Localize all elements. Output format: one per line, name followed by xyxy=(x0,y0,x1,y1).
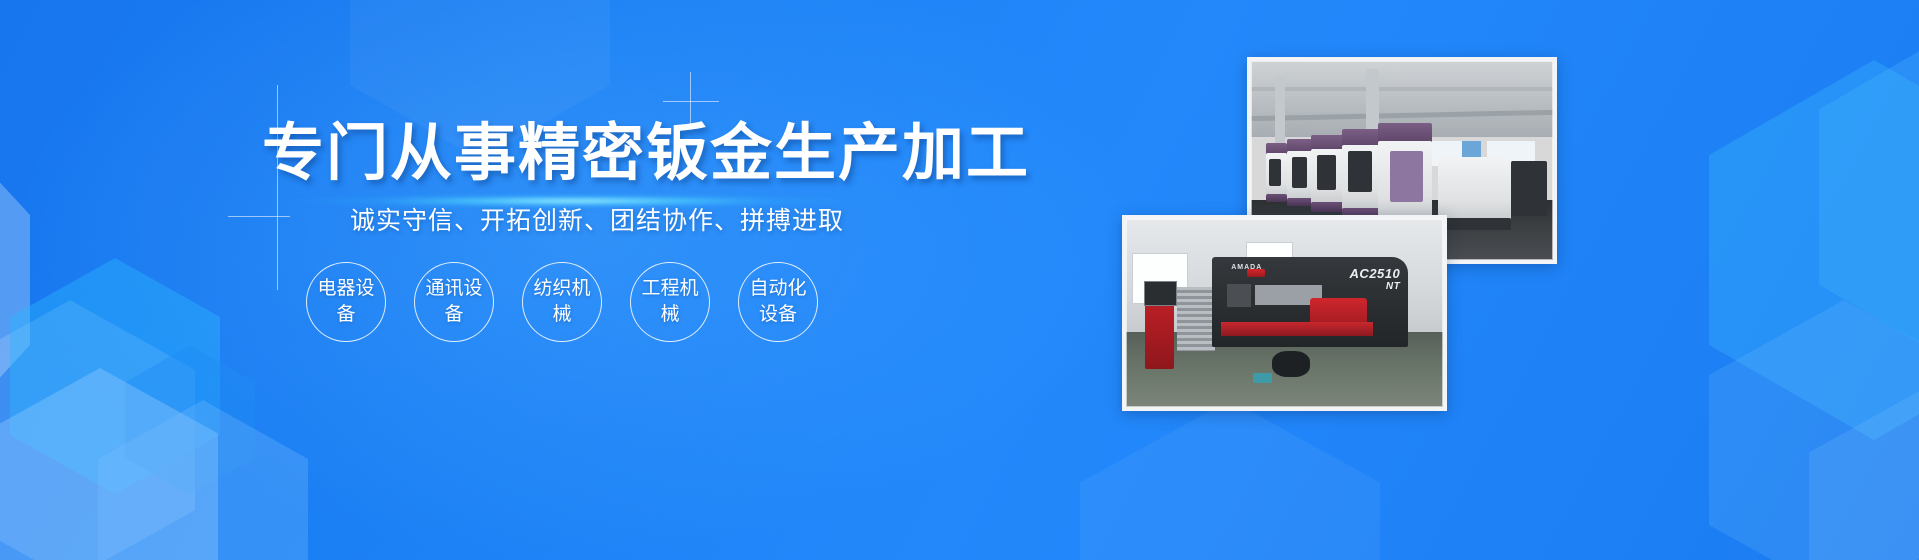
badge-label: 自动化设备 xyxy=(745,276,811,328)
amada-punch-press-photo[interactable]: AMADA AC2510 NT xyxy=(1122,215,1447,411)
machine-body xyxy=(1511,161,1547,217)
machine-base xyxy=(1438,218,1510,230)
machine-window-panel xyxy=(1390,151,1423,203)
badge-engineering-machinery[interactable]: 工程机械 xyxy=(630,262,710,342)
headline-block: 专门从事精密钣金生产加工 xyxy=(262,118,882,196)
machine-door xyxy=(1269,159,1281,187)
badge-label: 纺织机械 xyxy=(529,276,595,328)
badge-label: 通讯设备 xyxy=(421,276,487,328)
machine-door xyxy=(1317,155,1335,191)
machine-side-panel xyxy=(1227,284,1251,307)
badge-electrical-equipment[interactable]: 电器设备 xyxy=(306,262,386,342)
control-screen xyxy=(1144,281,1178,306)
crosshair-horizontal-line xyxy=(228,216,290,217)
badge-textile-machinery[interactable]: 纺织机械 xyxy=(522,262,602,342)
machine-door xyxy=(1292,157,1307,189)
crosshair-horizontal-line xyxy=(663,101,719,102)
machine-motor xyxy=(1272,351,1310,377)
conveyor-rail xyxy=(1221,322,1373,335)
material-rack xyxy=(1177,287,1215,351)
indicator-light xyxy=(1247,269,1265,277)
promo-banner: 专门从事精密钣金生产加工 诚实守信、开拓创新、团结协作、拼搏进取 电器设备 通讯… xyxy=(0,0,1919,560)
machine-top-cover xyxy=(1378,123,1432,143)
punch-press-scene: AMADA AC2510 NT xyxy=(1126,219,1443,407)
machine-model-label: AC2510 NT xyxy=(1350,267,1401,293)
machine-base xyxy=(1311,202,1344,212)
machine-model-number: AC2510 xyxy=(1350,266,1401,281)
badge-communication-equipment[interactable]: 通讯设备 xyxy=(414,262,494,342)
machine-base xyxy=(1266,194,1287,202)
machine-model-suffix: NT xyxy=(1350,280,1401,293)
ceiling-beam xyxy=(1251,87,1553,91)
badge-automation-equipment[interactable]: 自动化设备 xyxy=(738,262,818,342)
hexagon-shape-decor xyxy=(1080,400,1380,560)
banner-subtitle: 诚实守信、开拓创新、团结协作、拼搏进取 xyxy=(350,204,870,238)
machine-door xyxy=(1348,151,1372,193)
badge-label: 工程机械 xyxy=(637,276,703,328)
background-decoration xyxy=(0,0,1919,560)
machine-body xyxy=(1438,157,1510,221)
machine-base xyxy=(1287,198,1314,206)
badge-label: 电器设备 xyxy=(313,276,379,328)
floor-object xyxy=(1253,373,1272,382)
banner-headline: 专门从事精密钣金生产加工 xyxy=(262,118,882,190)
category-badge-row: 电器设备 通讯设备 纺织机械 工程机械 自动化设备 xyxy=(306,262,818,342)
